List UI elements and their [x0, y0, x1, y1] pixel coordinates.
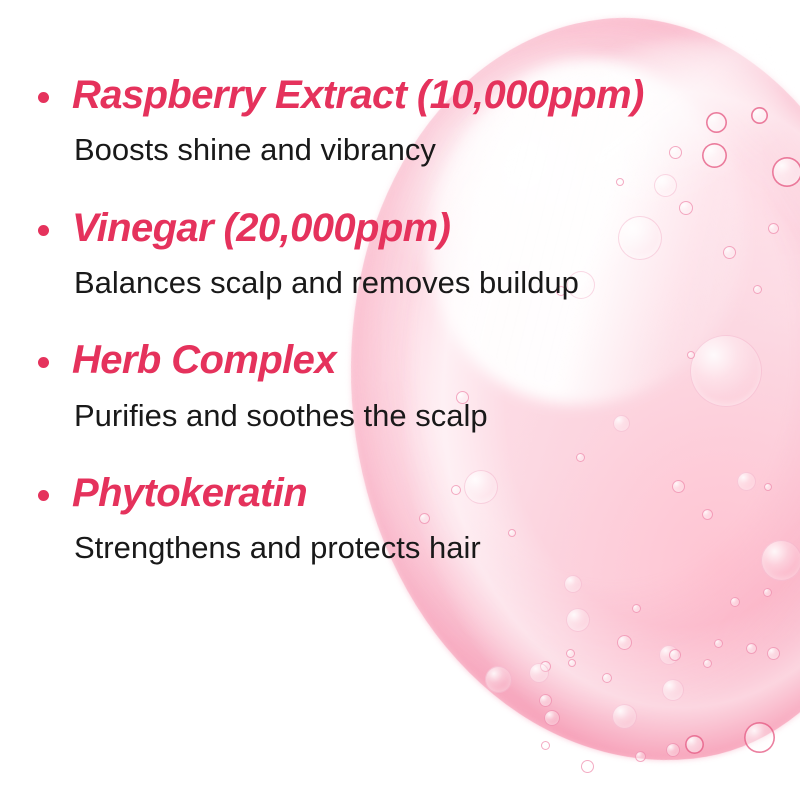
list-item: Raspberry Extract (10,000ppm) Boosts shi… — [0, 72, 800, 169]
ingredient-description: Purifies and soothes the scalp — [74, 397, 800, 434]
bullet-dot-icon — [38, 490, 49, 501]
ingredient-description: Balances scalp and removes buildup — [74, 264, 800, 301]
ingredient-content: Raspberry Extract (10,000ppm) Boosts shi… — [0, 0, 800, 800]
ingredient-title: Herb Complex — [72, 337, 800, 383]
list-item: Phytokeratin Strengthens and protects ha… — [0, 470, 800, 567]
ingredient-list: Raspberry Extract (10,000ppm) Boosts shi… — [0, 72, 800, 566]
ingredient-infographic: Raspberry Extract (10,000ppm) Boosts shi… — [0, 0, 800, 800]
ingredient-title: Raspberry Extract (10,000ppm) — [72, 72, 800, 118]
list-item: Herb Complex Purifies and soothes the sc… — [0, 337, 800, 434]
ingredient-title: Vinegar (20,000ppm) — [72, 205, 800, 251]
bullet-dot-icon — [38, 225, 49, 236]
bullet-dot-icon — [38, 357, 49, 368]
ingredient-description: Strengthens and protects hair — [74, 529, 800, 566]
ingredient-title: Phytokeratin — [72, 470, 800, 516]
ingredient-description: Boosts shine and vibrancy — [74, 131, 800, 168]
list-item: Vinegar (20,000ppm) Balances scalp and r… — [0, 205, 800, 302]
bullet-dot-icon — [38, 92, 49, 103]
